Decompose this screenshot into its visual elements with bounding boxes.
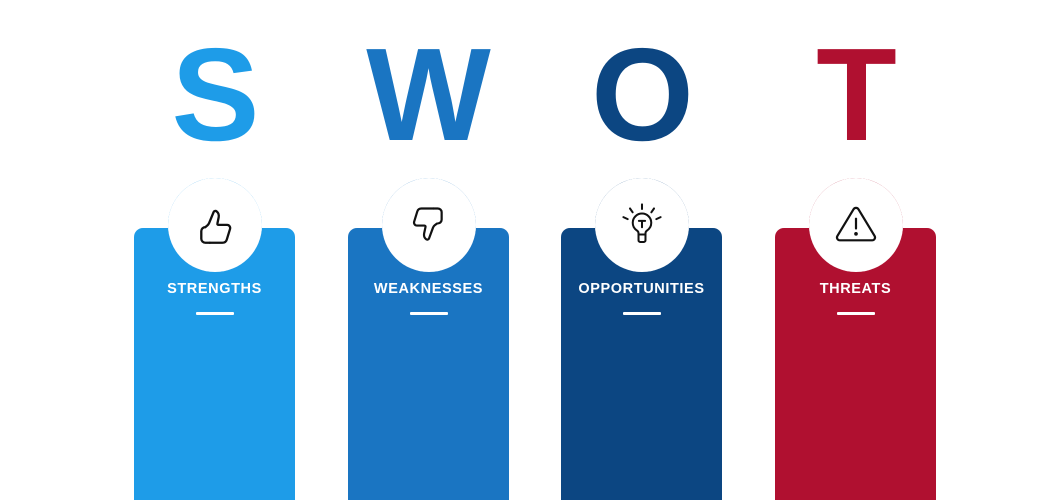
badge-inner xyxy=(382,178,476,272)
warning-triangle-icon xyxy=(833,202,879,248)
threats-label: THREATS xyxy=(753,281,958,297)
swot-letter-t: T xyxy=(748,30,963,160)
thumbs-down-icon xyxy=(407,203,451,247)
badge-inner xyxy=(168,178,262,272)
strengths-badge xyxy=(168,178,262,272)
weaknesses-badge xyxy=(382,178,476,272)
badge-inner xyxy=(809,178,903,272)
swot-card-weaknesses[interactable]: WEAKNESSES xyxy=(348,228,509,500)
swot-letter-row: S W O T xyxy=(0,30,1056,160)
lightbulb-icon xyxy=(620,203,664,247)
swot-diagram: S W O T STRENGTHS xyxy=(0,0,1056,500)
opportunities-badge xyxy=(595,178,689,272)
threats-rule xyxy=(837,312,875,315)
swot-card-threats[interactable]: THREATS xyxy=(775,228,936,500)
swot-letter-s: S xyxy=(107,30,322,160)
thumbs-up-icon xyxy=(192,202,238,248)
weaknesses-rule xyxy=(410,312,448,315)
swot-letter-w: W xyxy=(320,30,535,160)
opportunities-rule xyxy=(623,312,661,315)
threats-badge xyxy=(809,178,903,272)
weaknesses-label: WEAKNESSES xyxy=(326,281,531,297)
opportunities-label: OPPORTUNITIES xyxy=(539,281,744,297)
strengths-rule xyxy=(196,312,234,315)
badge-inner xyxy=(595,178,689,272)
swot-card-opportunities[interactable]: OPPORTUNITIES xyxy=(561,228,722,500)
swot-card-strengths[interactable]: STRENGTHS xyxy=(134,228,295,500)
swot-letter-o: O xyxy=(534,30,749,160)
strengths-label: STRENGTHS xyxy=(112,281,317,297)
